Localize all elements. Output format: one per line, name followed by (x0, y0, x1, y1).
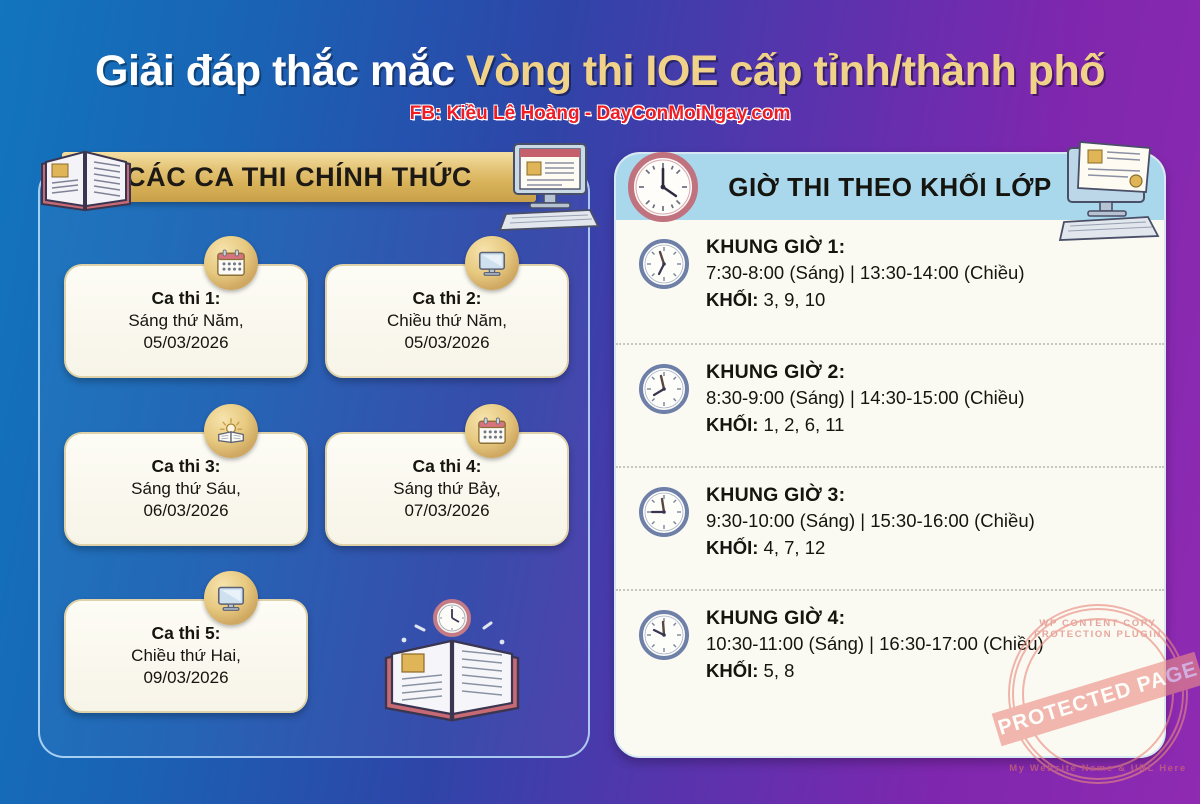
time-slot-title: KHUNG GIỜ 2: (706, 359, 1146, 385)
infographic-canvas: Giải đáp thắc mắc Vòng thi IOE cấp tỉnh/… (0, 0, 1200, 804)
time-slot-grades: KHỐI: 5, 8 (706, 658, 1146, 685)
card-line2: 07/03/2026 (404, 500, 489, 522)
time-slot-grades: KHỐI: 4, 7, 12 (706, 535, 1146, 562)
monitor-icon (465, 236, 519, 290)
time-slot-text: KHUNG GIỜ 2: 8:30-9:00 (Sáng) | 14:30-15… (706, 359, 1146, 466)
grade-label: KHỐI: (706, 414, 758, 435)
card-title: Ca thi 3: (151, 456, 220, 478)
card-line2: 09/03/2026 (143, 667, 228, 689)
time-slot-times: 9:30-10:00 (Sáng) | 15:30-16:00 (Chiều) (706, 508, 1146, 535)
clock-icon (638, 359, 690, 466)
card-line2: 05/03/2026 (143, 332, 228, 354)
calendar-icon (465, 404, 519, 458)
open-book-clock-illustration (372, 596, 532, 736)
time-slot-grades: KHỐI: 3, 9, 10 (706, 287, 1146, 314)
time-slot-title: KHUNG GIỜ 3: (706, 482, 1146, 508)
exam-session-card: Ca thi 1: Sáng thứ Năm, 05/03/2026 (64, 264, 308, 378)
monitor-icon (204, 571, 258, 625)
page-title-part1: Giải đáp thắc mắc (95, 47, 466, 95)
grade-label: KHỐI: (706, 537, 758, 558)
time-slot-text: KHUNG GIỜ 1: 7:30-8:00 (Sáng) | 13:30-14… (706, 234, 1146, 343)
exam-session-card: Ca thi 5: Chiều thứ Hai, 09/03/2026 (64, 599, 308, 713)
open-book-icon (34, 142, 138, 220)
time-slot-title: KHUNG GIỜ 4: (706, 605, 1146, 631)
page-subtitle: FB: Kiều Lê Hoàng - DayConMoiNgay.com (0, 103, 1200, 125)
right-panel-heading: GIỜ THI THEO KHỐI LỚP (728, 172, 1052, 203)
left-panel-heading: CÁC CA THI CHÍNH THỨC (126, 162, 472, 193)
watermark-arc-bottom: My Website Name & URL Here (1000, 763, 1196, 774)
time-slot-times: 8:30-9:00 (Sáng) | 14:30-15:00 (Chiều) (706, 385, 1146, 412)
card-line1: Sáng thứ Bảy, (393, 478, 500, 500)
grade-label: KHỐI: (706, 289, 758, 310)
clock-icon (638, 482, 690, 589)
desktop-computer-icon (1058, 140, 1164, 250)
clock-icon (638, 234, 690, 343)
sunrise-book-icon (204, 404, 258, 458)
time-slot-times: 10:30-11:00 (Sáng) | 16:30-17:00 (Chiều) (706, 631, 1146, 658)
time-slot-text: KHUNG GIỜ 4: 10:30-11:00 (Sáng) | 16:30-… (706, 605, 1146, 712)
page-title-part2: Vòng thi IOE cấp tỉnh/thành phố (466, 47, 1105, 95)
wall-clock-icon (626, 150, 700, 229)
time-slot-grades: KHỐI: 1, 2, 6, 11 (706, 412, 1146, 439)
clock-icon (638, 605, 690, 712)
exam-session-card: Ca thi 2: Chiều thứ Năm, 05/03/2026 (325, 264, 569, 378)
calendar-icon (204, 236, 258, 290)
card-title: Ca thi 5: (151, 623, 220, 645)
card-line1: Chiều thứ Năm, (387, 310, 507, 332)
exam-session-card: Ca thi 3: Sáng thứ Sáu, 06/03/2026 (64, 432, 308, 546)
desktop-computer-icon (496, 140, 604, 232)
card-title: Ca thi 2: (412, 288, 481, 310)
card-title: Ca thi 4: (412, 456, 481, 478)
header: Giải đáp thắc mắc Vòng thi IOE cấp tỉnh/… (0, 48, 1200, 125)
grade-label: KHỐI: (706, 660, 758, 681)
grade-value: 5, 8 (758, 660, 794, 681)
grade-value: 4, 7, 12 (758, 537, 825, 558)
card-line1: Sáng thứ Năm, (128, 310, 243, 332)
time-slot-row: KHUNG GIỜ 2: 8:30-9:00 (Sáng) | 14:30-15… (616, 343, 1164, 466)
card-line2: 05/03/2026 (404, 332, 489, 354)
time-slot-list: KHUNG GIỜ 1: 7:30-8:00 (Sáng) | 13:30-14… (616, 220, 1164, 712)
card-line2: 06/03/2026 (143, 500, 228, 522)
time-slot-row: KHUNG GIỜ 3: 9:30-10:00 (Sáng) | 15:30-1… (616, 466, 1164, 589)
time-slot-text: KHUNG GIỜ 3: 9:30-10:00 (Sáng) | 15:30-1… (706, 482, 1146, 589)
grade-value: 1, 2, 6, 11 (758, 414, 844, 435)
time-slot-row: KHUNG GIỜ 4: 10:30-11:00 (Sáng) | 16:30-… (616, 589, 1164, 712)
time-slot-times: 7:30-8:00 (Sáng) | 13:30-14:00 (Chiều) (706, 260, 1146, 287)
card-title: Ca thi 1: (151, 288, 220, 310)
card-line1: Sáng thứ Sáu, (131, 478, 241, 500)
exam-session-card: Ca thi 4: Sáng thứ Bảy, 07/03/2026 (325, 432, 569, 546)
page-title: Giải đáp thắc mắc Vòng thi IOE cấp tỉnh/… (0, 48, 1200, 94)
grade-value: 3, 9, 10 (758, 289, 825, 310)
card-line1: Chiều thứ Hai, (131, 645, 241, 667)
